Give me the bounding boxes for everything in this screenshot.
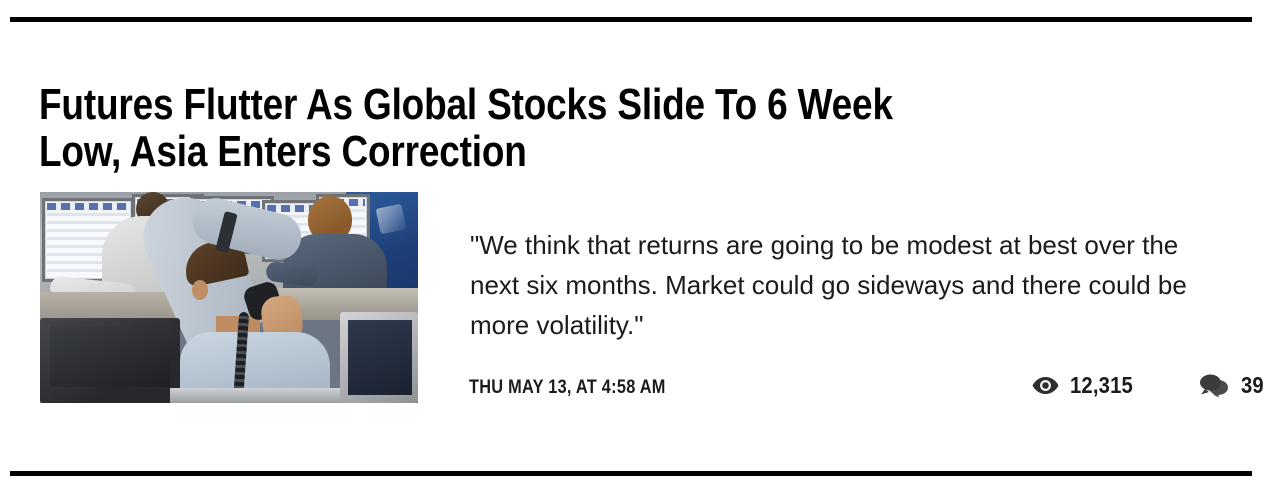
comment-count-value: 39	[1241, 372, 1264, 399]
divider-top	[10, 17, 1252, 22]
comment-count[interactable]: 39	[1200, 372, 1267, 399]
divider-bottom	[10, 471, 1252, 476]
foreground-monitor-right	[340, 312, 418, 403]
page-title[interactable]: Futures Flutter As Global Stocks Slide T…	[39, 81, 929, 175]
view-count: 12,315	[1032, 372, 1142, 399]
comments-icon	[1200, 374, 1230, 398]
view-count-value: 12,315	[1070, 372, 1133, 399]
article-excerpt: "We think that returns are going to be m…	[470, 225, 1200, 345]
foreground-monitor-left	[40, 318, 180, 403]
thumbnail-scene	[40, 192, 418, 403]
article-timestamp: THU MAY 13, AT 4:58 AM	[469, 377, 666, 399]
trader-ear	[192, 280, 208, 300]
article-card: Futures Flutter As Global Stocks Slide T…	[0, 0, 1284, 502]
article-thumbnail[interactable]	[40, 192, 418, 403]
article-stats: 12,315 39	[1032, 372, 1267, 399]
desk-divider	[170, 388, 360, 403]
eye-icon	[1032, 376, 1059, 395]
